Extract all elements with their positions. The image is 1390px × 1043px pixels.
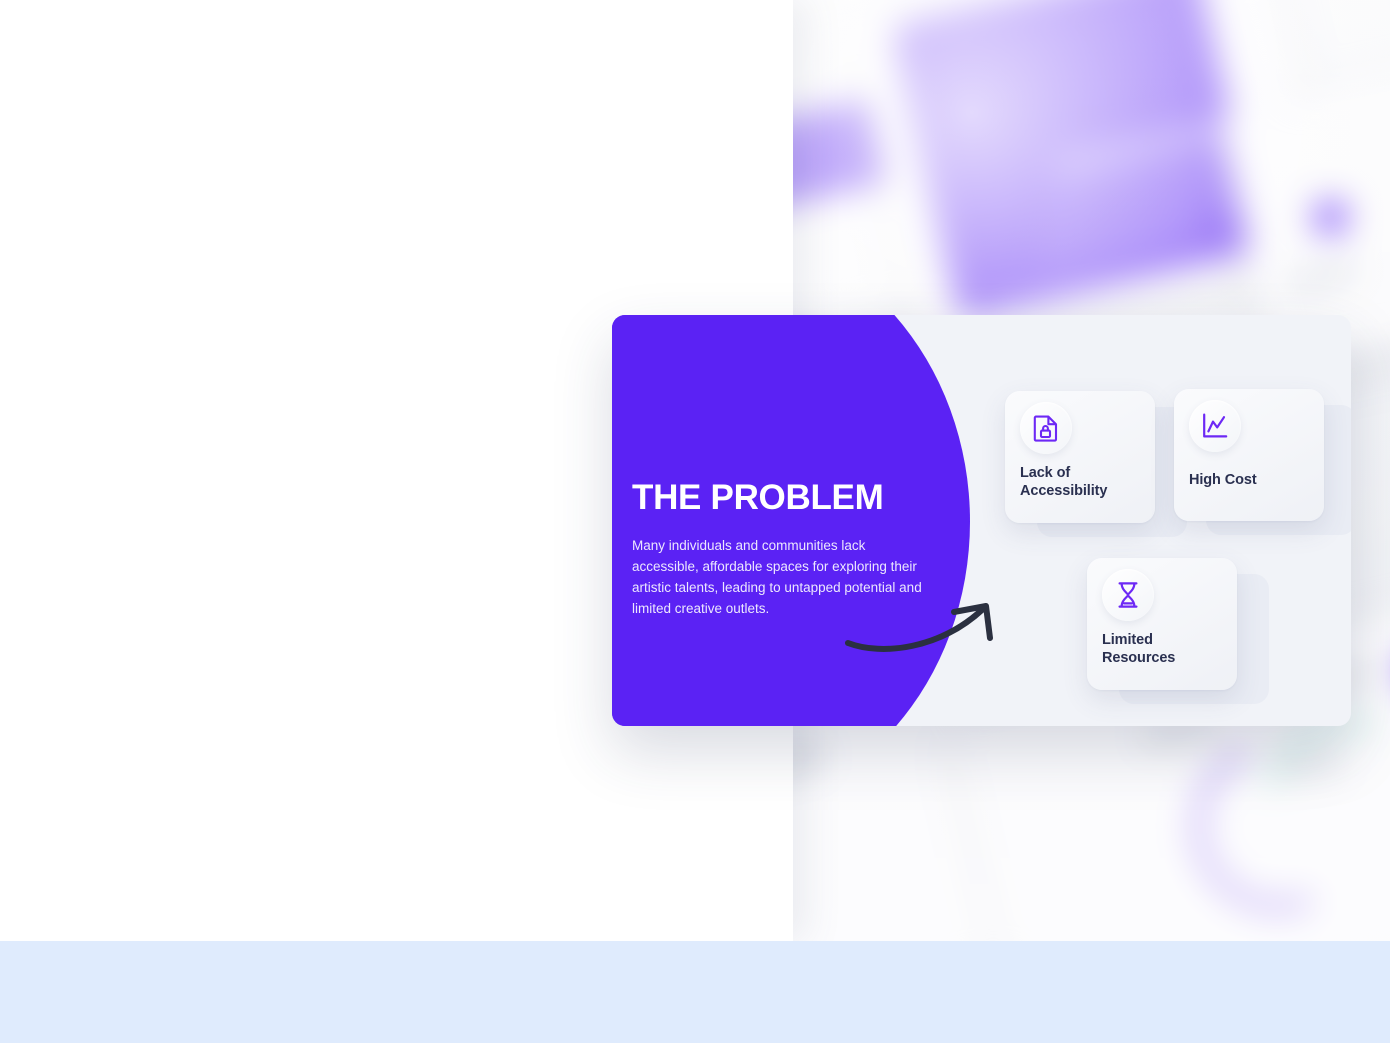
curved-arrow-up-right-icon: [844, 593, 1004, 660]
tile-limited-resources[interactable]: Limited Resources: [1087, 558, 1237, 690]
slide-page: Business Plan Kit Problem Clearly define…: [0, 0, 1390, 1043]
line-chart-icon: [1189, 400, 1241, 452]
slide-purple-circle: [612, 315, 970, 726]
mock-dot-c: [1313, 200, 1347, 234]
tile-label: Limited Resources: [1102, 631, 1226, 668]
slide-heading: THE PROBLEM: [632, 478, 883, 518]
tile-label: Lack of Accessibility: [1020, 464, 1144, 501]
document-lock-icon: [1020, 402, 1072, 454]
tile-label: High Cost: [1189, 471, 1313, 489]
hourglass-icon: [1102, 569, 1154, 621]
tile-high-cost[interactable]: High Cost: [1174, 389, 1324, 521]
tile-lack-of-accessibility[interactable]: Lack of Accessibility: [1005, 391, 1155, 523]
bottom-band: [0, 941, 1390, 1043]
slide-preview-card[interactable]: THE PROBLEM Many individuals and communi…: [612, 315, 1351, 726]
